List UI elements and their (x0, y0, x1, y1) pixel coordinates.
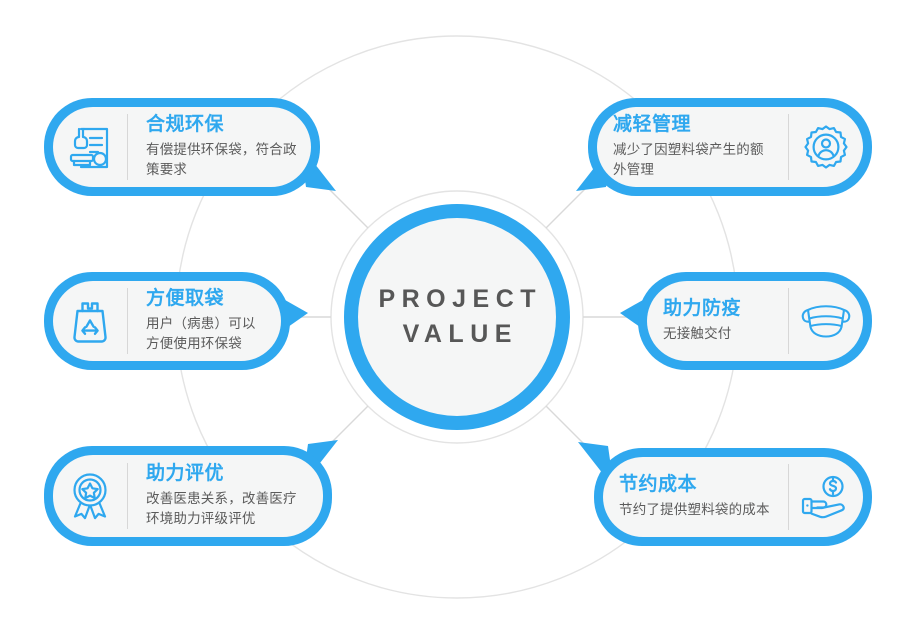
card-description: 有偿提供环保袋，符合政策要求 (146, 140, 297, 181)
face-mask-icon (789, 301, 863, 341)
card-title: 节约成本 (619, 473, 770, 497)
hub-title-line1: PROJECT (372, 282, 542, 318)
card-zhuli[interactable]: 助力评优 改善医患关系，改善医疗环境助力评级评优 (44, 446, 332, 546)
card-fangbian[interactable]: 方便取袋 用户（病患）可以方便使用环保袋 (44, 272, 290, 370)
card-title: 合规环保 (146, 113, 297, 137)
card-description: 改善医患关系，改善医疗环境助力评级评优 (146, 489, 309, 530)
card-jianqing[interactable]: 减轻管理 减少了因塑料袋产生的额外管理 (588, 98, 872, 196)
card-title: 助力防疫 (663, 297, 770, 321)
card-description: 节约了提供塑料袋的成本 (619, 500, 770, 521)
card-title: 助力评优 (146, 462, 309, 486)
card-hegui[interactable]: 合规环保 有偿提供环保袋，符合政策要求 (44, 98, 320, 196)
card-jieyue[interactable]: 节约成本 节约了提供塑料袋的成本 (594, 448, 872, 546)
award-medal-icon (53, 472, 127, 520)
hand-money-icon (789, 475, 863, 519)
card-title: 方便取袋 (146, 287, 267, 311)
document-stamp-icon (53, 124, 127, 170)
recycle-bag-icon (53, 298, 127, 344)
card-description: 减少了因塑料袋产生的额外管理 (613, 140, 770, 181)
project-value-diagram: 合规环保 有偿提供环保袋，符合政策要求 减轻管理 减少了因塑料袋产生的额外管理 (0, 0, 913, 634)
card-title: 减轻管理 (613, 113, 770, 137)
card-description: 无接触交付 (663, 324, 770, 345)
hub-title-line2: VALUE (396, 317, 518, 353)
card-description: 用户（病患）可以方便使用环保袋 (146, 314, 267, 355)
center-hub: PROJECT VALUE (344, 204, 570, 430)
card-fangyi[interactable]: 助力防疫 无接触交付 (638, 272, 872, 370)
gear-person-icon (789, 124, 863, 170)
